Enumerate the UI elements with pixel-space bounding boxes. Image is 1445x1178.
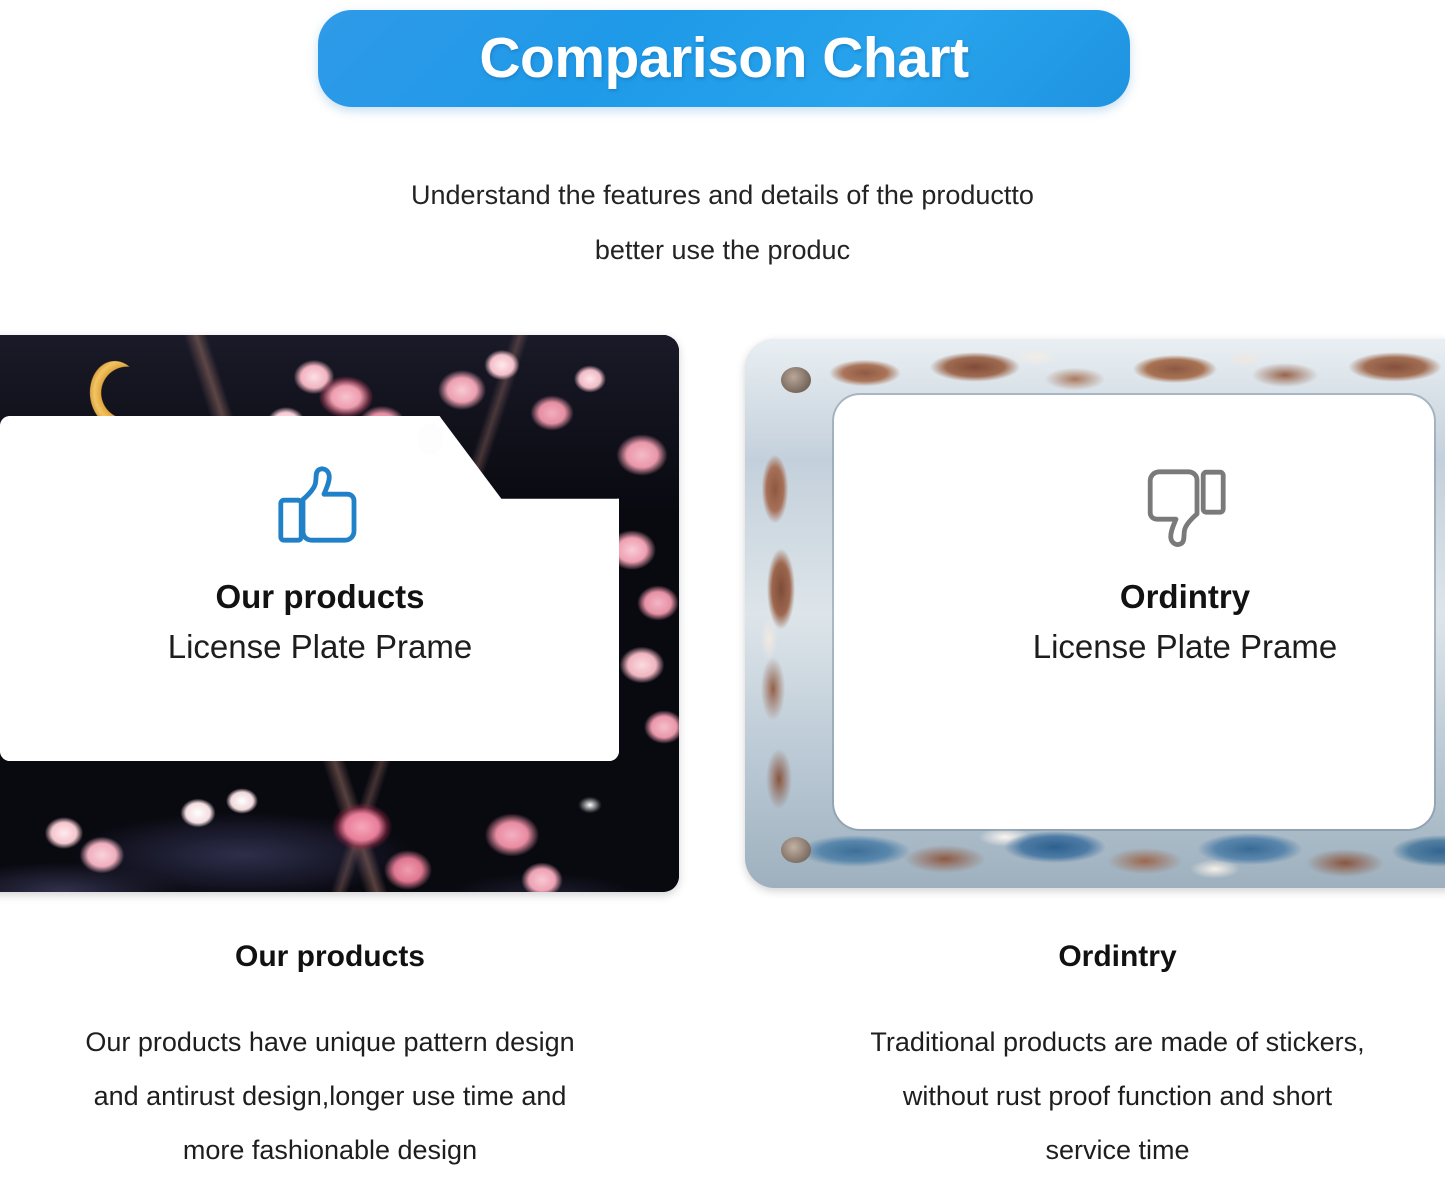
ordinary-product-description-heading: Ordintry <box>790 940 1445 973</box>
subtitle-line-1: Understand the features and details of t… <box>0 168 1445 223</box>
our-product-description-block: Our products Our products have unique pa… <box>0 940 660 1177</box>
ordinary-product-card-content: Ordintry License Plate Prame <box>805 465 1445 666</box>
screw-hole-left <box>418 423 443 455</box>
our-product-card-title: Our products <box>0 579 640 615</box>
ordinary-product-desc-line-1: Traditional products are made of sticker… <box>790 1015 1445 1069</box>
our-product-desc-line-2: and antirust design,longer use time and <box>0 1069 660 1123</box>
thumbs-up-icon <box>274 465 366 551</box>
header-banner-area: Comparison Chart <box>0 0 1445 130</box>
our-product-description-heading: Our products <box>0 940 660 973</box>
ordinary-product-desc-line-2: without rust proof function and short <box>790 1069 1445 1123</box>
screw-hole-top-right-frame <box>781 367 811 393</box>
our-product-desc-line-1: Our products have unique pattern design <box>0 1015 660 1069</box>
our-product-card-content: Our products License Plate Prame <box>0 465 640 666</box>
ordinary-product-card-title: Ordintry <box>805 579 1445 615</box>
ordinary-product-desc-line-3: service time <box>790 1123 1445 1177</box>
comparison-chart-banner: Comparison Chart <box>318 10 1130 107</box>
subtitle-block: Understand the features and details of t… <box>0 168 1445 278</box>
thumbs-down-icon <box>1140 465 1230 551</box>
ordinary-product-card-subtitle: License Plate Prame <box>805 629 1445 665</box>
our-product-description-text: Our products have unique pattern design … <box>0 1015 660 1177</box>
our-product-card-subtitle: License Plate Prame <box>0 629 640 665</box>
ordinary-product-description-text: Traditional products are made of sticker… <box>790 1015 1445 1177</box>
screw-hole-bottom-right-frame <box>781 837 811 863</box>
page-title: Comparison Chart <box>479 30 968 87</box>
subtitle-line-2: better use the produc <box>0 223 1445 278</box>
our-product-desc-line-3: more fashionable design <box>0 1123 660 1177</box>
ordinary-product-description-block: Ordintry Traditional products are made o… <box>790 940 1445 1177</box>
